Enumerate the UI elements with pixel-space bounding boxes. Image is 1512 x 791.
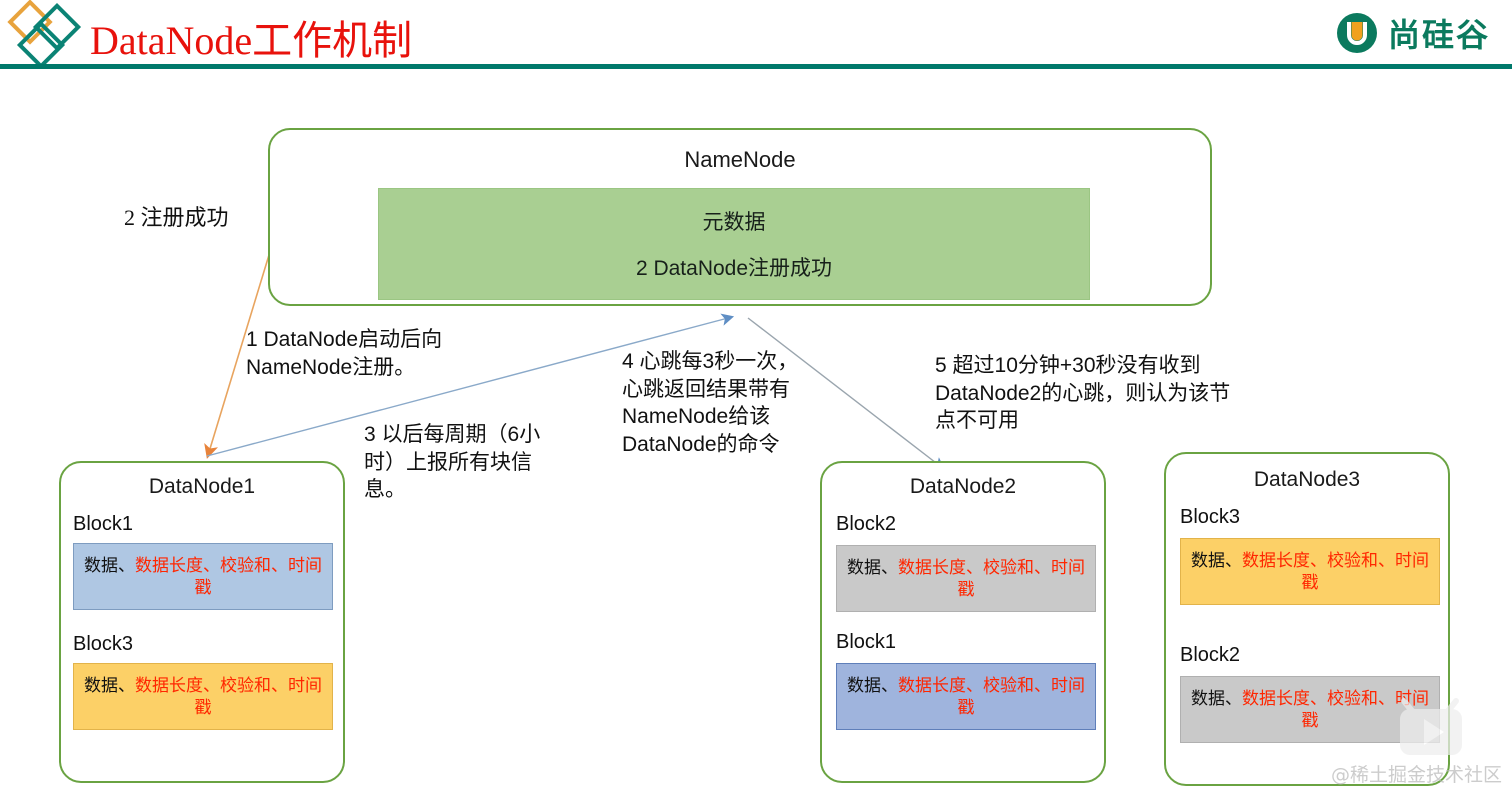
datanode3-block-label-0: Block3 xyxy=(1180,506,1240,529)
datanode1-block-1: 数据、数据长度、校验和、时间戳 xyxy=(73,663,333,730)
datanode3-block-0: 数据、数据长度、校验和、时间戳 xyxy=(1180,538,1440,605)
metadata-label: 元数据 xyxy=(703,206,766,236)
namenode-metadata-box: 元数据 2 DataNode注册成功 xyxy=(378,188,1090,300)
block-red-text: 数据长度、校验和、时间戳 xyxy=(135,676,322,717)
block-black-text: 数据、 xyxy=(1191,689,1242,708)
datanode3-title: DataNode3 xyxy=(1166,468,1448,492)
annotation-step-1: 1 DataNode启动后向NameNode注册。 xyxy=(246,326,496,381)
brand-name: 尚硅谷 xyxy=(1388,10,1490,56)
block-red-text: 数据长度、校验和、时间戳 xyxy=(898,558,1085,599)
datanode2-block-label-1: Block1 xyxy=(836,631,896,654)
datanode2-box[interactable]: DataNode2 Block2 数据、数据长度、校验和、时间戳 Block1 … xyxy=(820,461,1106,783)
diamonds-logo-icon xyxy=(6,4,86,68)
datanode2-title: DataNode2 xyxy=(822,475,1104,499)
annotation-step-2: 2 注册成功 xyxy=(124,203,229,232)
datanode2-block-1: 数据、数据长度、校验和、时间戳 xyxy=(836,663,1096,730)
block-black-text: 数据、 xyxy=(84,676,135,695)
datanode1-title: DataNode1 xyxy=(61,475,343,499)
header-divider xyxy=(0,64,1512,69)
annotation-step-5: 5 超过10分钟+30秒没有收到DataNode2的心跳，则认为该节点不可用 xyxy=(935,352,1235,435)
watermark-text: @稀土掘金技术社区 xyxy=(1331,760,1502,787)
annotation-step-4: 4 心跳每3秒一次，心跳返回结果带有NameNode给该DataNode的命令 xyxy=(622,348,802,459)
video-play-logo-icon xyxy=(1398,697,1464,759)
datanode1-block-label-1: Block3 xyxy=(73,633,133,656)
annotation-step-3: 3 以后每周期（6小时）上报所有块信息。 xyxy=(364,421,554,504)
datanode3-block-label-1: Block2 xyxy=(1180,644,1240,667)
datanode2-block-0: 数据、数据长度、校验和、时间戳 xyxy=(836,545,1096,612)
namenode-box[interactable]: NameNode 元数据 2 DataNode注册成功 xyxy=(268,128,1212,306)
block-red-text: 数据长度、校验和、时间戳 xyxy=(898,676,1085,717)
slide-canvas: DataNode工作机制 尚硅谷 xyxy=(0,0,1512,791)
block-red-text: 数据长度、校验和、时间戳 xyxy=(135,556,322,597)
datanode1-block-0: 数据、数据长度、校验和、时间戳 xyxy=(73,543,333,610)
metadata-register-status: 2 DataNode注册成功 xyxy=(636,252,832,282)
page-title: DataNode工作机制 xyxy=(90,8,412,66)
slide-header: DataNode工作机制 尚硅谷 xyxy=(0,0,1512,68)
block-black-text: 数据、 xyxy=(847,676,898,695)
block-black-text: 数据、 xyxy=(1191,551,1242,570)
brand-logo: 尚硅谷 xyxy=(1334,8,1490,58)
block-black-text: 数据、 xyxy=(847,558,898,577)
namenode-title: NameNode xyxy=(270,147,1210,173)
block-red-text: 数据长度、校验和、时间戳 xyxy=(1242,551,1429,592)
watermark: @稀土掘金技术社区 xyxy=(1331,760,1502,787)
datanode1-block-label-0: Block1 xyxy=(73,513,133,536)
datanode2-block-label-0: Block2 xyxy=(836,513,896,536)
datanode1-box[interactable]: DataNode1 Block1 数据、数据长度、校验和、时间戳 Block3 … xyxy=(59,461,345,783)
atguigu-u-logo-icon xyxy=(1334,10,1380,56)
block-black-text: 数据、 xyxy=(84,556,135,575)
